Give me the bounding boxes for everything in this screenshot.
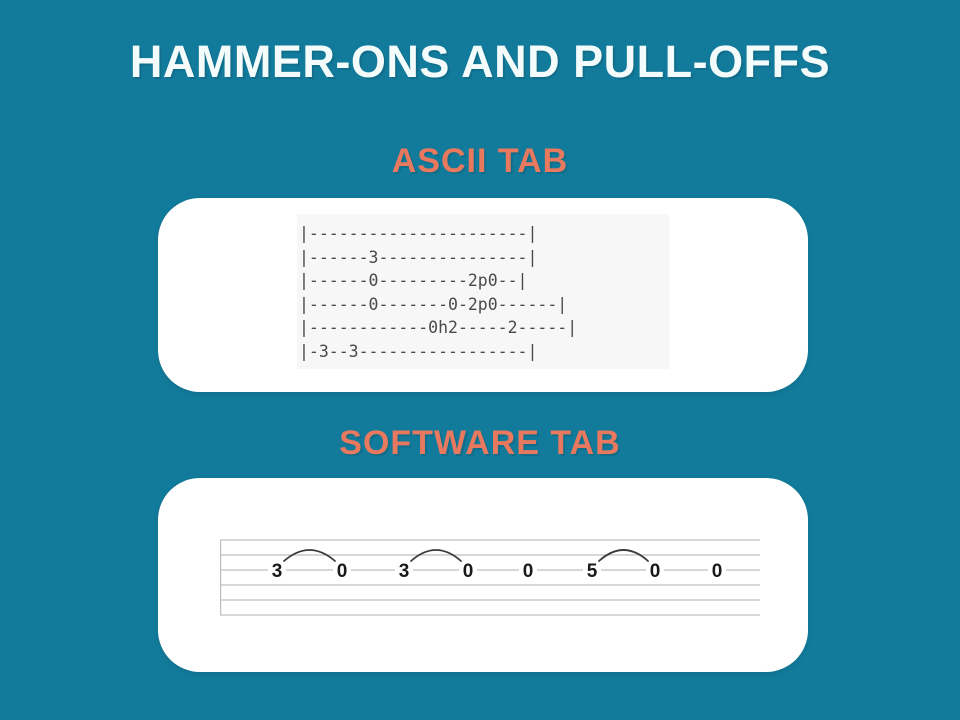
tab-note: 0 (463, 561, 474, 582)
ascii-tab-card: |----------------------||------3--------… (158, 198, 808, 392)
tab-staff: 30300500 (220, 526, 760, 626)
tab-note: 0 (523, 561, 534, 582)
ascii-tab-block: |----------------------||------3--------… (297, 214, 669, 369)
section-heading-ascii: ASCII TAB (0, 142, 960, 181)
tab-note: 0 (712, 561, 723, 582)
section-heading-software: SOFTWARE TAB (0, 424, 960, 463)
ascii-tab-line: |-3--3-----------------| (297, 340, 669, 364)
tab-note: 0 (337, 561, 348, 582)
software-tab-card: 30300500 (158, 478, 808, 672)
ascii-tab-line: |----------------------| (297, 222, 669, 246)
ascii-tab-line: |------0---------2p0--| (297, 269, 669, 293)
tab-note: 5 (587, 561, 598, 582)
tab-staff-graphic: 30300500 (220, 526, 760, 626)
ascii-tab-line: |------3---------------| (297, 246, 669, 270)
ascii-tab-line: |------0-------0-2p0------| (297, 293, 669, 317)
page-title: HAMMER-ONS AND PULL-OFFS (0, 38, 960, 85)
tab-note: 3 (272, 561, 283, 582)
tab-note: 0 (650, 561, 661, 582)
slide-root: HAMMER-ONS AND PULL-OFFS ASCII TAB |----… (0, 0, 960, 720)
ascii-tab-line: |------------0h2-----2-----| (297, 316, 669, 340)
tab-note: 3 (399, 561, 410, 582)
